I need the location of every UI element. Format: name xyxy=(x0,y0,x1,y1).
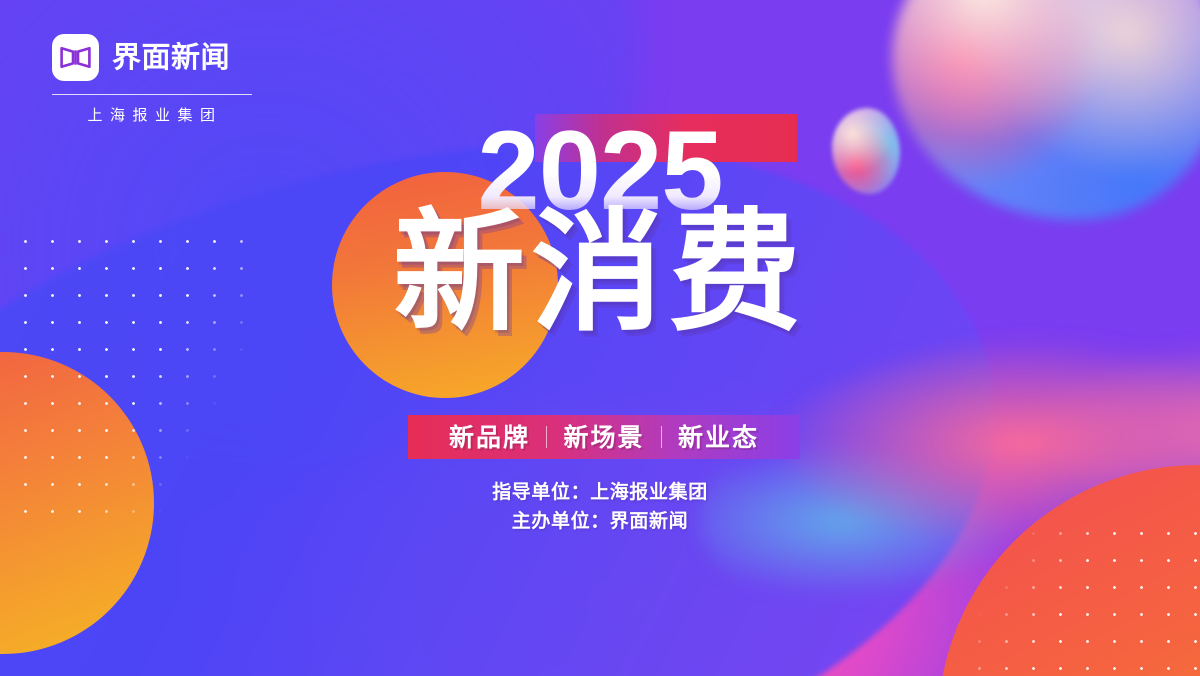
promotional-poster: 界面新闻 上海报业集团 2025 新消费 新品牌 新场景 新业态 指导单位：上海… xyxy=(0,0,1200,676)
headline-block: 2025 新消费 xyxy=(0,118,1200,348)
credits-block: 指导单位：上海报业集团 主办单位：界面新闻 xyxy=(0,478,1200,536)
logo-divider xyxy=(52,94,252,95)
logo-primary-row: 界面新闻 xyxy=(52,34,252,81)
subtitle-item-3: 新业态 xyxy=(662,425,775,450)
dot-grid-right xyxy=(966,520,1200,676)
main-title: 新消费 xyxy=(0,200,1200,348)
credit-guiding-unit: 指导单位：上海报业集团 xyxy=(0,478,1200,507)
jiemian-butterfly-icon xyxy=(52,34,99,81)
credit-organizer: 主办单位：界面新闻 xyxy=(0,507,1200,536)
subtitle-item-1: 新品牌 xyxy=(433,425,546,450)
subtitle-band: 新品牌 新场景 新业态 xyxy=(408,415,800,459)
logo-brand-name: 界面新闻 xyxy=(112,43,230,72)
subtitle-item-2: 新场景 xyxy=(547,425,660,450)
brand-logo: 界面新闻 上海报业集团 xyxy=(52,34,252,125)
